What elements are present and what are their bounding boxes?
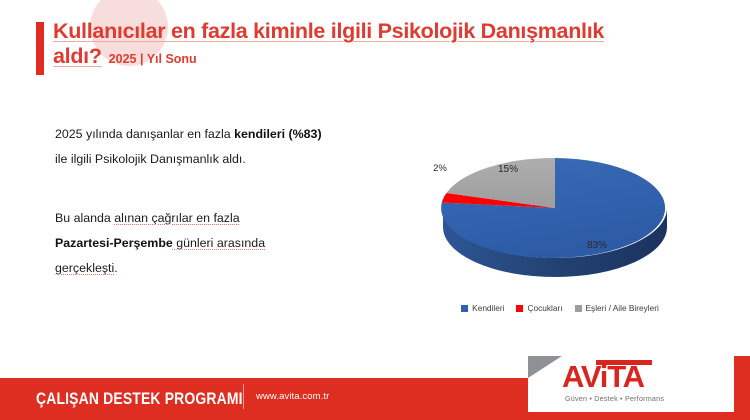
paragraph-2: Bu alanda alınan çağrılar en fazla Pazar… <box>55 206 385 281</box>
pie-label-15: 15% <box>498 164 518 175</box>
title-line-1: Kullanıcılar en fazla kiminle ilgili Psi… <box>53 19 713 44</box>
paragraph-2-text-a: Bu alanda <box>55 211 114 225</box>
paragraph-2-text-c: günleri <box>173 236 217 250</box>
title-row-2: aldı? 2025 | Yıl Sonu <box>53 44 713 69</box>
legend-item-cocuklari[interactable]: Çocukları <box>516 303 562 313</box>
avita-logo: AViTA <box>562 361 644 392</box>
legend-swatch-icon-cocuklari <box>516 305 523 312</box>
paragraph-2-underline-2: arasında <box>217 236 265 250</box>
paragraph-2-underline-3: gerçekleşti <box>55 261 114 275</box>
paragraph-1-text-a: 2025 yılında danışanlar en fazla <box>55 127 234 141</box>
page-title: Kullanıcılar en fazla kiminle ilgili Psi… <box>53 19 713 69</box>
logo-overline-bar <box>596 360 652 365</box>
avita-logo-tagline: Güven • Destek • Performans <box>565 394 664 403</box>
pie-chart: 83% 15% 2% Kendileri Çocukları Eşleri / … <box>410 145 710 340</box>
pie-label-83: 83% <box>587 240 607 251</box>
legend-swatch-icon-kendileri <box>461 305 468 312</box>
title-accent-bar <box>36 22 44 75</box>
legend-swatch-icon-esleri-aile <box>575 305 582 312</box>
paragraph-1: 2025 yılında danışanlar en fazla kendile… <box>55 122 385 172</box>
paragraph-2-underline-1: alınan çağrılar <box>114 211 193 225</box>
chart-legend: Kendileri Çocukları Eşleri / Aile Bireyl… <box>410 303 710 313</box>
footer-divider <box>243 384 244 409</box>
title-line-2: aldı? <box>53 44 102 69</box>
footer-program-name: ÇALIŞAN DESTEK PROGRAMI <box>36 389 243 409</box>
legend-label-cocuklari: Çocukları <box>527 303 562 313</box>
paragraph-1-highlight: kendileri (%83) <box>234 127 321 141</box>
legend-item-kendileri[interactable]: Kendileri <box>461 303 504 313</box>
title-subtitle: 2025 | Yıl Sonu <box>109 52 197 66</box>
paragraph-1-text-b: ile ilgili Psikolojik Danışmanlık aldı. <box>55 152 246 166</box>
legend-label-kendileri: Kendileri <box>472 303 504 313</box>
legend-item-esleri-aile[interactable]: Eşleri / Aile Bireyleri <box>575 303 659 313</box>
slide-header: Kullanıcılar en fazla kiminle ilgili Psi… <box>0 0 750 100</box>
paragraph-2-text-b: en fazla <box>193 211 240 225</box>
body-copy: 2025 yılında danışanlar en fazla kendile… <box>55 122 385 281</box>
footer-url[interactable]: www.avita.com.tr <box>256 391 329 402</box>
paragraph-2-period: . <box>114 261 117 275</box>
pie-label-2: 2% <box>433 163 447 174</box>
legend-label-esleri-aile: Eşleri / Aile Bireyleri <box>586 303 659 313</box>
paragraph-2-highlight: Pazartesi-Perşembe <box>55 236 173 250</box>
pie-chart-svg: 83% 15% 2% <box>410 145 710 305</box>
